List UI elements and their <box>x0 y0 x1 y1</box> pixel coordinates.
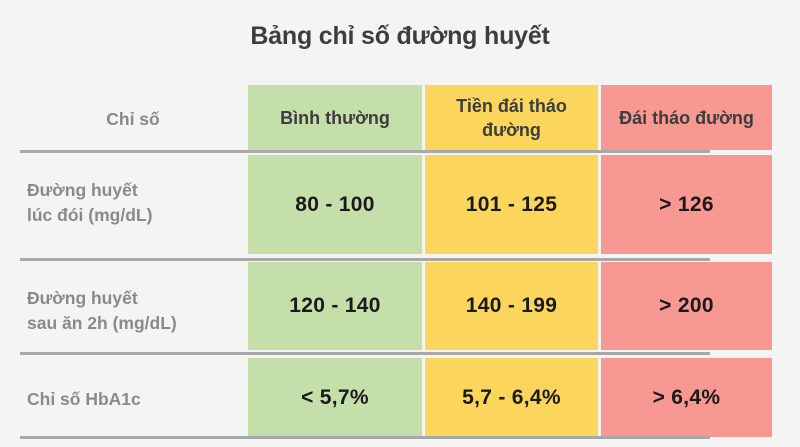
table-cell-postmeal-prediabetes: 140 - 199 <box>425 262 598 350</box>
row-label-line2: sau ăn 2h (mg/dL) <box>27 311 242 336</box>
table-cell-hba1c-diabetes: > 6,4% <box>601 358 772 437</box>
table-cell-fasting-normal: 80 - 100 <box>248 155 422 254</box>
glucose-index-table: Chỉ số Bình thường Tiền đái tháo đường Đ… <box>0 0 800 447</box>
table-bottom-divider <box>20 436 710 439</box>
table-cell-fasting-prediabetes: 101 - 125 <box>425 155 598 254</box>
table-cell-postmeal-normal: 120 - 140 <box>248 262 422 350</box>
table-row-label-fasting: Đường huyết lúc đói (mg/dL) <box>27 178 242 232</box>
table-cell-hba1c-normal: < 5,7% <box>248 358 422 437</box>
table-header-prediabetes: Tiền đái tháo đường <box>425 85 598 150</box>
header-divider <box>20 150 710 153</box>
row-label-line1: Đường huyết <box>27 178 242 203</box>
table-cell-hba1c-prediabetes: 5,7 - 6,4% <box>425 358 598 437</box>
table-cell-postmeal-diabetes: > 200 <box>601 262 772 350</box>
table-header-index: Chỉ số <box>20 88 246 150</box>
table-header-normal: Bình thường <box>248 85 422 150</box>
table-row-label-postmeal: Đường huyết sau ăn 2h (mg/dL) <box>27 286 242 340</box>
row1-divider <box>20 258 710 261</box>
table-header-diabetes: Đái tháo đường <box>601 85 772 150</box>
table-row-label-hba1c: Chỉ số HbA1c <box>27 368 242 430</box>
row2-divider <box>20 352 710 355</box>
table-cell-fasting-diabetes: > 126 <box>601 155 772 254</box>
row-label-line2: lúc đói (mg/dL) <box>27 203 242 228</box>
row-label-line1: Đường huyết <box>27 286 242 311</box>
